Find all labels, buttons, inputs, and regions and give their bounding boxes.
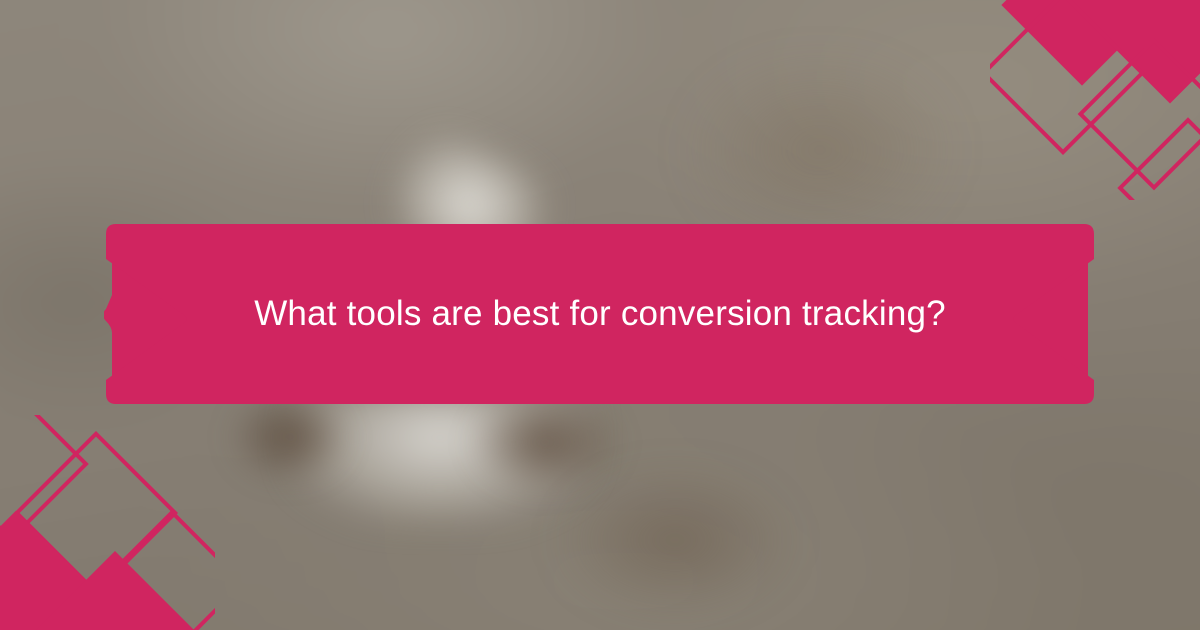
- background-blur-blob: [230, 392, 350, 482]
- ribbon-banner: What tools are best for conversion track…: [104, 223, 1096, 405]
- background-blur-blob: [560, 470, 790, 610]
- background-blur-blob: [690, 60, 950, 240]
- banner-canvas: What tools are best for conversion track…: [0, 0, 1200, 630]
- banner-headline: What tools are best for conversion track…: [104, 223, 1096, 405]
